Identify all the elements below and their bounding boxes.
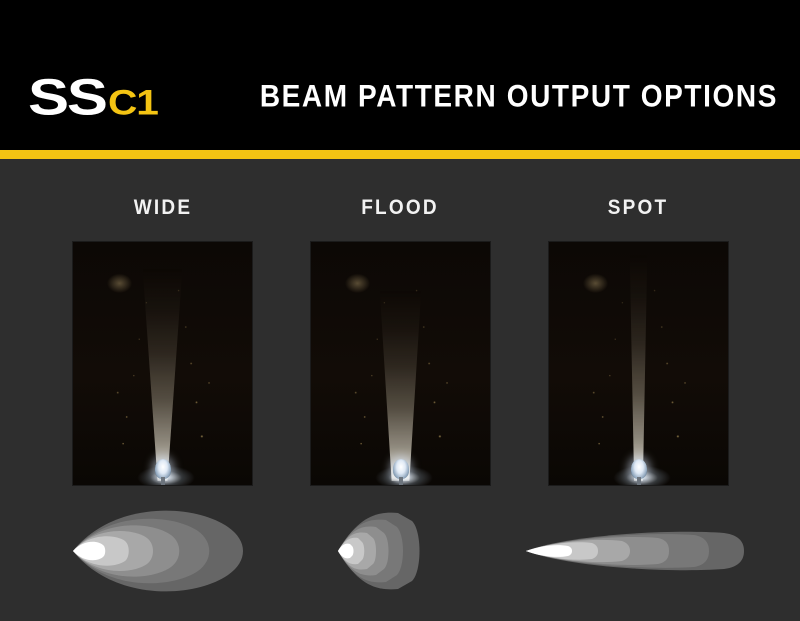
product-logo: SS C1 (28, 68, 154, 123)
accent-divider (0, 150, 800, 159)
beam-layers-wide (73, 511, 243, 592)
column-label-wide: WIDE (43, 196, 283, 221)
light-mount-spot (637, 477, 641, 485)
beam-pattern-infographic: SS C1 BEAM PATTERN OUTPUT OPTIONS WIDE F… (0, 0, 800, 621)
header-bar: SS C1 BEAM PATTERN OUTPUT OPTIONS (0, 0, 800, 150)
logo-text-primary: SS (28, 72, 106, 123)
beam-photo-flood (311, 242, 490, 485)
beam-photo-spot (549, 242, 728, 485)
column-labels: WIDE FLOOD SPOT (0, 196, 800, 222)
light-mount-wide (161, 477, 165, 485)
beam-diagram-flood (280, 505, 520, 597)
light-mount-flood (399, 477, 403, 485)
page-title: BEAM PATTERN OUTPUT OPTIONS (260, 78, 778, 114)
beam-diagram-spot (518, 505, 758, 597)
light-source-wide (155, 459, 171, 479)
beam-layers-spot (526, 532, 744, 570)
column-label-spot: SPOT (518, 196, 758, 221)
beam-layers-flood (338, 513, 420, 590)
beam-layer-1-hotspot (526, 545, 572, 557)
beam-layer-1-hotspot (73, 542, 105, 560)
beam-layer-1-hotspot (338, 544, 354, 559)
light-source-spot (631, 459, 647, 479)
roadside-speckle-wide (73, 242, 252, 485)
beam-photo-wide (73, 242, 252, 485)
roadside-speckle-flood (311, 242, 490, 485)
beam-diagram-wide (43, 505, 283, 597)
light-source-flood (393, 459, 409, 479)
roadside-speckle-spot (549, 242, 728, 485)
logo-text-secondary: C1 (108, 85, 158, 120)
column-label-flood: FLOOD (280, 196, 520, 221)
